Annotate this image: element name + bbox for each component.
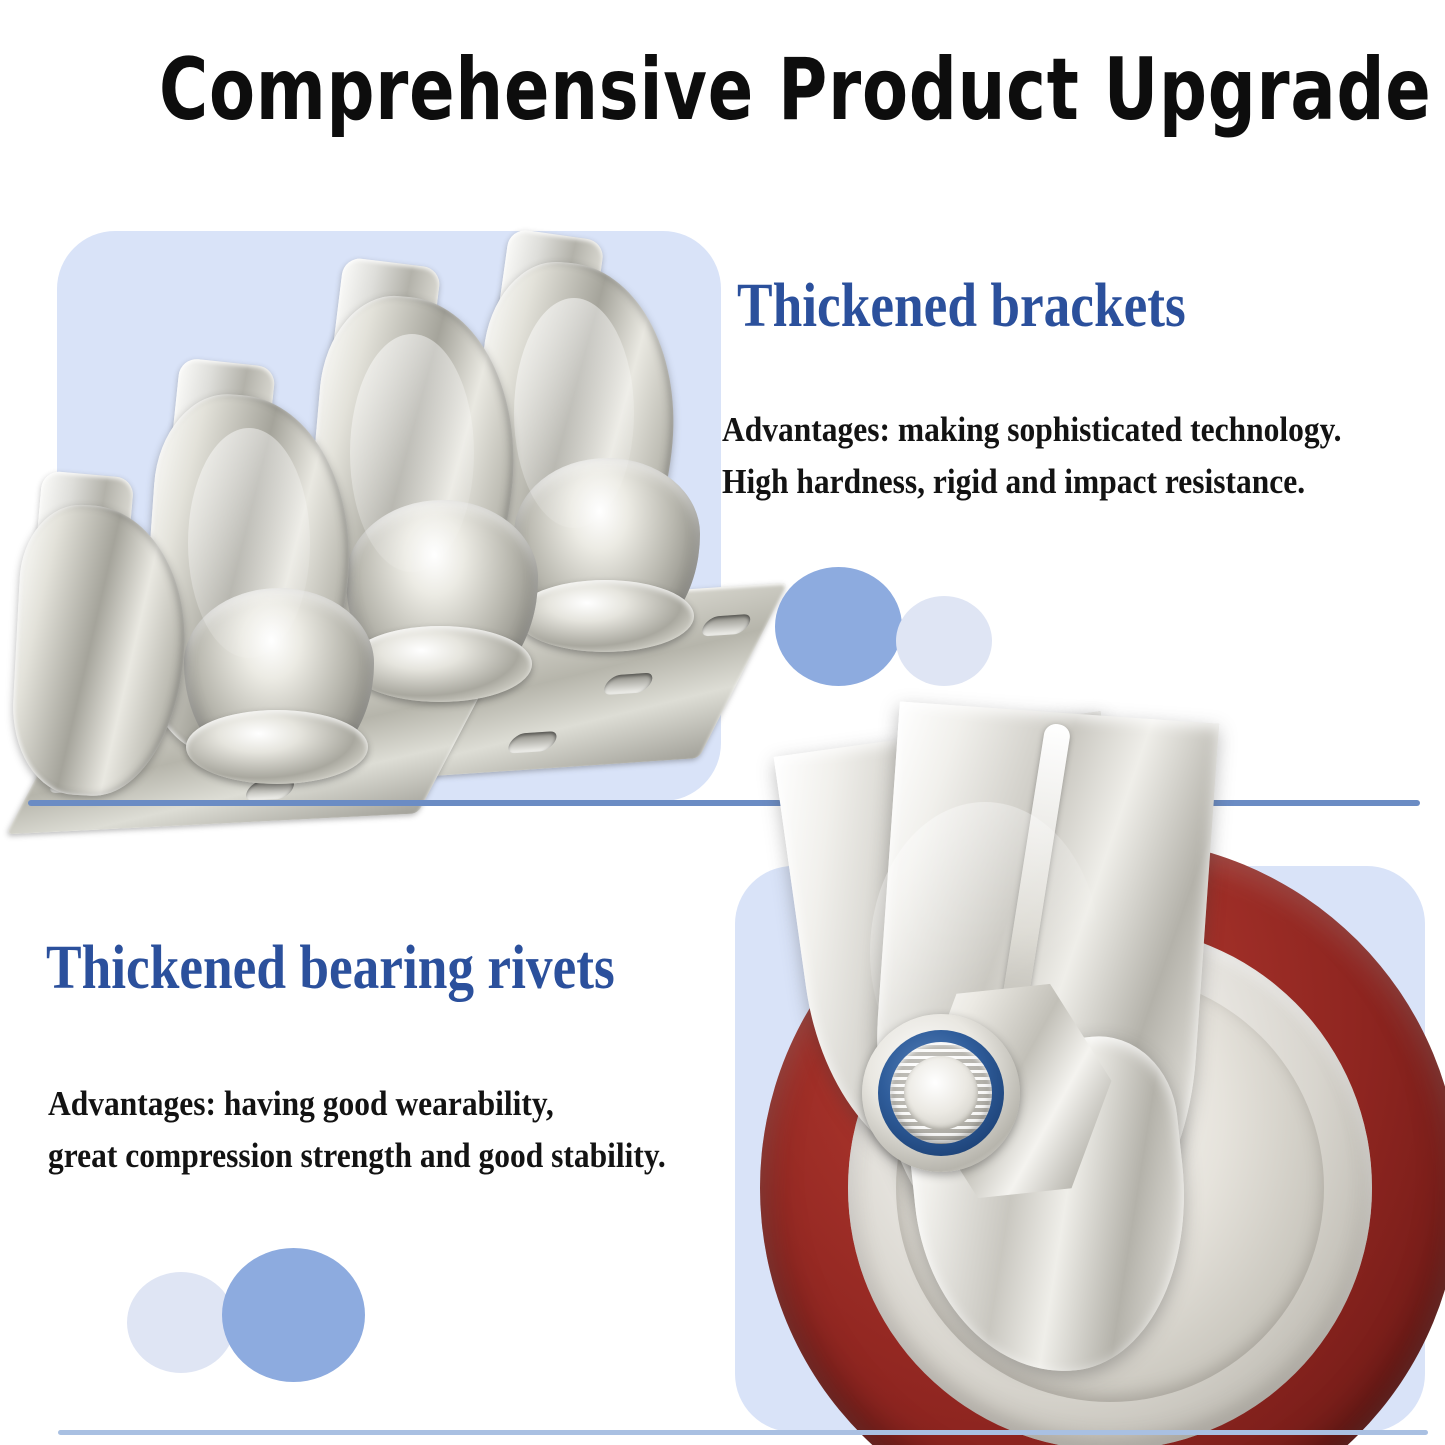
feature-heading-brackets: Thickened brackets [737,272,1186,340]
feature-body-line: great compression strength and good stab… [48,1130,666,1182]
bracket-swivel-hub [516,580,694,652]
bolt-face [904,1056,978,1130]
plate-mounting-hole [698,614,754,637]
product-photo-brackets [44,228,734,806]
page-title: Comprehensive Product Upgrade [159,42,1286,138]
feature-body-line: Advantages: having good wearability, [48,1078,666,1130]
product-photo-rivets [720,862,1445,1438]
feature-body-line: Advantages: making sophisticated technol… [722,404,1342,456]
bracket-swivel-hub [348,626,532,702]
decorative-blue-circle [775,567,902,686]
product-upgrade-infographic: Comprehensive Product Upgrade [0,0,1445,1445]
decorative-pale-circle [896,596,992,686]
plate-mounting-hole [600,672,656,695]
feature-body-brackets: Advantages: making sophisticated technol… [722,404,1342,508]
bottom-divider [58,1430,1428,1435]
plate-mounting-hole [505,731,561,754]
decorative-pale-circle [127,1272,235,1373]
decorative-blue-circle [222,1248,365,1382]
bracket-swivel-hub [186,710,368,784]
feature-body-rivets: Advantages: having good wearability, gre… [48,1078,666,1182]
feature-body-line: High hardness, rigid and impact resistan… [722,456,1342,508]
feature-heading-rivets: Thickened bearing rivets [46,934,615,1002]
